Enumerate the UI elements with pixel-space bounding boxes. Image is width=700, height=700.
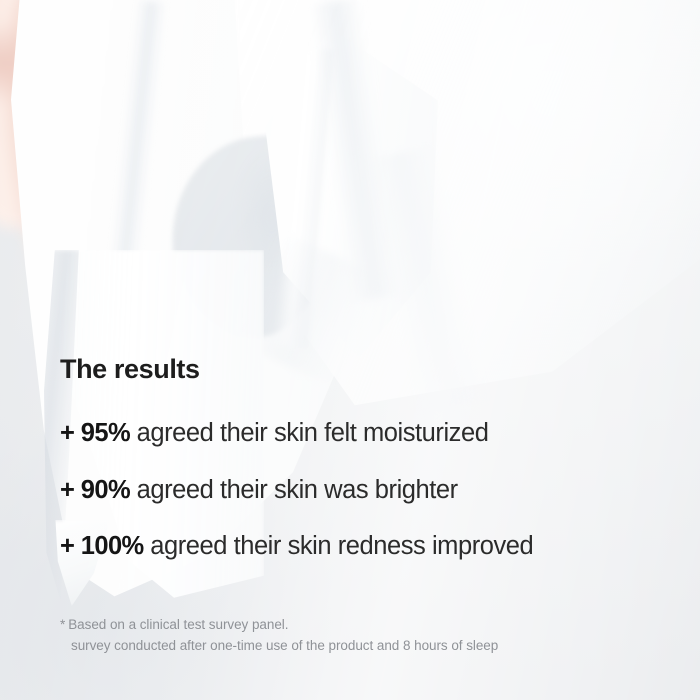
claim-text: agreed their skin felt moisturized xyxy=(130,419,488,447)
claim-row: + 100% agreed their skin redness improve… xyxy=(60,534,670,560)
footnote-line-1-text: Based on a clinical test survey panel. xyxy=(68,617,288,632)
claim-text: agreed their skin was brighter xyxy=(130,476,458,504)
claim-percent: + 90% xyxy=(60,476,130,504)
claim-row: + 95% agreed their skin felt moisturized xyxy=(60,421,670,447)
claim-row: + 90% agreed their skin was brighter xyxy=(60,478,670,504)
footnote: *Based on a clinical test survey panel. … xyxy=(60,614,660,657)
overall-light-sheen xyxy=(0,0,700,700)
page-title: The results xyxy=(60,356,670,383)
claims-list: + 95% agreed their skin felt moisturized… xyxy=(60,421,670,560)
claim-percent: + 100% xyxy=(60,532,144,560)
product-claim-slide: The results + 95% agreed their skin felt… xyxy=(0,0,700,700)
asterisk-icon: * xyxy=(60,617,65,632)
claim-percent: + 95% xyxy=(60,419,130,447)
footnote-line-2: survey conducted after one-time use of t… xyxy=(60,635,660,656)
claim-text: agreed their skin redness improved xyxy=(144,532,534,560)
footnote-line-1: *Based on a clinical test survey panel. xyxy=(60,614,660,635)
results-copy-block: The results + 95% agreed their skin felt… xyxy=(60,356,670,560)
